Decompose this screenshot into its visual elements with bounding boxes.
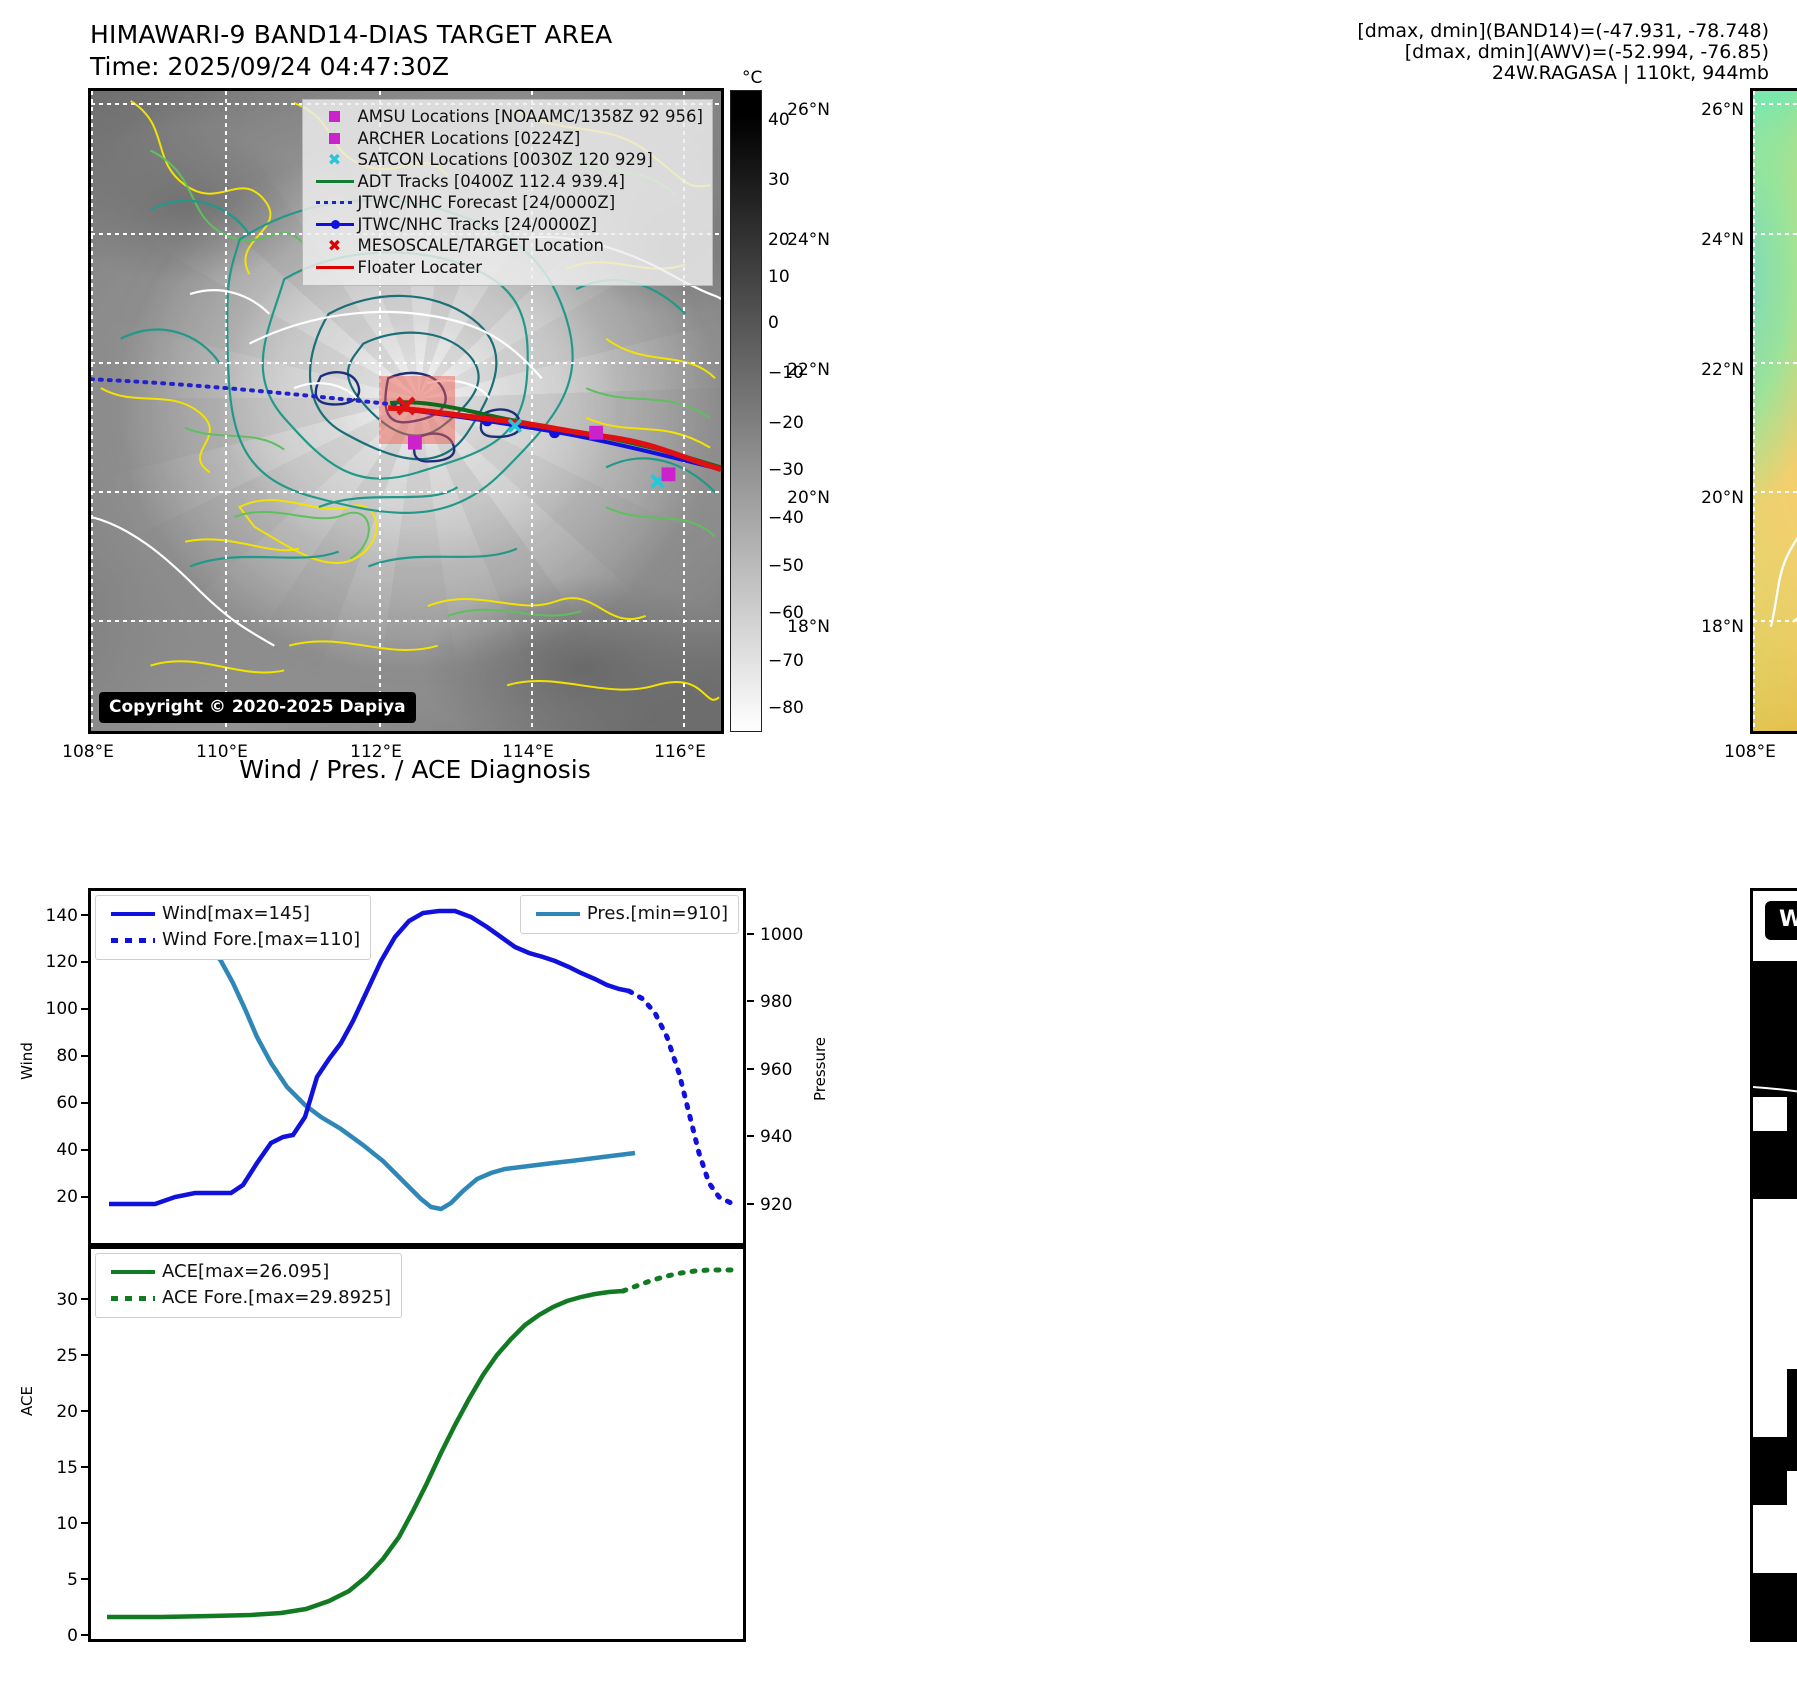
lightblue-solid-line-icon <box>529 912 587 916</box>
ir-lat-tick: 20°N <box>750 488 830 508</box>
ace-ytick: 0 <box>0 1626 78 1646</box>
blue-line-marker-icon <box>312 223 358 226</box>
ace-ytick: 10 <box>0 1514 78 1534</box>
wmg-count-badge: WMG Count: 0 <box>1765 901 1797 940</box>
pressure-axis-label: Pressure <box>811 1034 829 1104</box>
green-solid-line-icon <box>104 1270 162 1274</box>
ace-ytick: 15 <box>0 1458 78 1478</box>
legend-item: JTWC/NHC Tracks [24/0000Z] <box>312 214 704 236</box>
green-line-icon <box>312 180 358 183</box>
ace-chart-legend: ACE[max=26.095] ACE Fore.[max=29.8925] <box>95 1253 402 1318</box>
legend-item: JTWC/NHC Forecast [24/0000Z] <box>312 192 704 214</box>
legend-label: Wind[max=145] <box>162 901 310 927</box>
ace-ytick: 5 <box>0 1570 78 1590</box>
ir-colorbar-tick: 30 <box>768 170 790 190</box>
ir-lat-tick: 26°N <box>750 100 830 120</box>
legend-item: Wind[max=145] <box>104 901 360 927</box>
legend-label: JTWC/NHC Forecast [24/0000Z] <box>358 192 616 214</box>
awv-lat-tick: 22°N <box>1666 360 1744 380</box>
ir-colorbar <box>730 90 762 732</box>
ir-colorbar-tick: −70 <box>768 651 804 671</box>
dmax-dmin-band14: [dmax, dmin](BAND14)=(-47.931, -78.748) <box>1357 20 1769 42</box>
blue-solid-line-icon <box>104 912 162 916</box>
ir-target-area-panel: HIMAWARI-9 BAND14-DIAS TARGET AREA Time:… <box>0 0 830 760</box>
legend-item: Floater Locater <box>312 257 704 279</box>
cyan-cross-icon: ✖ <box>312 152 358 168</box>
ir-colorbar-tick: −50 <box>768 556 804 576</box>
legend-item: ACE[max=26.095] <box>104 1259 391 1285</box>
legend-label: ACE[max=26.095] <box>162 1259 329 1285</box>
legend-item: ARCHER Locations [0224Z] <box>312 128 704 150</box>
awv-panel: [dmax, dmin](BAND14)=(-47.931, -78.748) … <box>830 0 1797 760</box>
blue-dotted-line-icon <box>312 201 358 204</box>
wind-axis-label: Wind <box>18 1031 36 1091</box>
legend-item: ADT Tracks [0400Z 112.4 939.4] <box>312 171 704 193</box>
ir-colorbar-tick: 20 <box>768 230 790 250</box>
ace-series <box>107 1291 623 1617</box>
wind-pressure-chart[interactable]: Wind[max=145] Wind Fore.[max=110] Pres.[… <box>88 888 746 1246</box>
ir-lat-tick: 24°N <box>750 230 830 250</box>
awv-lon-tick: 108°E <box>1724 742 1776 762</box>
wind-ytick: 140 <box>0 906 78 926</box>
copyright-notice: Copyright © 2020-2025 Dapiya <box>99 692 416 723</box>
magenta-square-icon <box>312 111 358 122</box>
wind-ytick: 80 <box>0 1046 78 1066</box>
ace-ytick: 20 <box>0 1402 78 1422</box>
ir-colorbar-tick: −10 <box>768 363 804 383</box>
awv-satellite-map[interactable] <box>1750 88 1797 734</box>
wmg-panel: WMG Count: 0 <box>830 760 1797 1690</box>
magenta-square-icon <box>312 133 358 144</box>
diagnosis-panel: Wind / Pres. / ACE Diagnosis Wind[max=14… <box>0 760 830 1690</box>
legend-label: ARCHER Locations [0224Z] <box>358 128 581 150</box>
observation-time: Time: 2025/09/24 04:47:30Z <box>90 52 449 81</box>
ace-chart[interactable]: ACE[max=26.095] ACE Fore.[max=29.8925] <box>88 1246 746 1642</box>
ir-satellite-map[interactable]: AMSU Locations [NOAAMC/1358Z 92 956] ARC… <box>88 88 724 734</box>
legend-item: AMSU Locations [NOAAMC/1358Z 92 956] <box>312 106 704 128</box>
ir-colorbar-tick: 0 <box>768 313 779 333</box>
ir-colorbar-tick: −20 <box>768 413 804 433</box>
legend-label: ACE Fore.[max=29.8925] <box>162 1285 391 1311</box>
blue-dotted-line-icon <box>104 938 162 943</box>
wind-ytick: 100 <box>0 999 78 1019</box>
ir-colorbar-tick: −80 <box>768 698 804 718</box>
diagnosis-title: Wind / Pres. / ACE Diagnosis <box>0 755 830 784</box>
wind-chart-legend-right: Pres.[min=910] <box>520 895 739 934</box>
legend-label: SATCON Locations [0030Z 120 929] <box>358 149 653 171</box>
ir-colorbar-tick: 40 <box>768 110 790 130</box>
ace-ytick: 25 <box>0 1346 78 1366</box>
legend-item: ✖ MESOSCALE/TARGET Location <box>312 235 704 257</box>
pressure-ytick: 980 <box>760 992 792 1012</box>
ace-forecast-series <box>623 1270 731 1291</box>
page-title: HIMAWARI-9 BAND14-DIAS TARGET AREA <box>90 20 613 49</box>
awv-lat-tick: 26°N <box>1666 100 1744 120</box>
legend-item: ACE Fore.[max=29.8925] <box>104 1285 391 1311</box>
mesoscale-target-box <box>379 376 455 444</box>
pressure-ytick: 960 <box>760 1060 792 1080</box>
ir-colorbar-tick: −60 <box>768 603 804 623</box>
legend-item: Wind Fore.[max=110] <box>104 927 360 953</box>
pressure-ytick: 940 <box>760 1127 792 1147</box>
dashboard-root: HIMAWARI-9 BAND14-DIAS TARGET AREA Time:… <box>0 0 1797 1690</box>
ir-colorbar-tick: −40 <box>768 508 804 528</box>
green-dotted-line-icon <box>104 1296 162 1301</box>
red-line-icon <box>312 266 358 269</box>
wind-ytick: 20 <box>0 1187 78 1207</box>
legend-label: JTWC/NHC Tracks [24/0000Z] <box>358 214 598 236</box>
storm-summary: 24W.RAGASA | 110kt, 944mb <box>1492 62 1769 84</box>
wmg-black-cells <box>1753 927 1797 1639</box>
ir-map-legend: AMSU Locations [NOAAMC/1358Z 92 956] ARC… <box>302 99 714 286</box>
pressure-ytick: 1000 <box>760 925 803 945</box>
legend-label: ADT Tracks [0400Z 112.4 939.4] <box>358 171 625 193</box>
wind-chart-legend-left: Wind[max=145] Wind Fore.[max=110] <box>95 895 371 960</box>
wmg-map[interactable]: WMG Count: 0 <box>1750 888 1797 1642</box>
ir-colorbar-tick: 10 <box>768 267 790 287</box>
legend-item: ✖ SATCON Locations [0030Z 120 929] <box>312 149 704 171</box>
awv-lat-tick: 20°N <box>1666 488 1744 508</box>
legend-label: Pres.[min=910] <box>587 901 728 927</box>
wind-ytick: 120 <box>0 952 78 972</box>
legend-label: MESOSCALE/TARGET Location <box>358 235 604 257</box>
wind-ytick: 40 <box>0 1140 78 1160</box>
legend-label: Wind Fore.[max=110] <box>162 927 360 953</box>
awv-lat-tick: 18°N <box>1666 617 1744 637</box>
legend-label: AMSU Locations [NOAAMC/1358Z 92 956] <box>358 106 704 128</box>
dmax-dmin-awv: [dmax, dmin](AWV)=(-52.994, -76.85) <box>1405 41 1769 63</box>
ace-ytick: 30 <box>0 1290 78 1310</box>
red-cross-icon: ✖ <box>312 238 358 254</box>
pressure-series <box>109 923 635 1209</box>
awv-edge-layer <box>1753 91 1797 731</box>
wind-forecast-series <box>629 991 731 1203</box>
legend-label: Floater Locater <box>358 257 483 279</box>
ace-axis-label: ACE <box>18 1371 36 1431</box>
legend-item: Pres.[min=910] <box>529 901 728 927</box>
ir-colorbar-unit: °C <box>742 68 762 88</box>
ir-colorbar-tick: −30 <box>768 460 804 480</box>
pressure-ytick: 920 <box>760 1195 792 1215</box>
awv-lat-tick: 24°N <box>1666 230 1744 250</box>
wmg-cell-grid <box>1753 891 1797 1639</box>
wind-ytick: 60 <box>0 1093 78 1113</box>
